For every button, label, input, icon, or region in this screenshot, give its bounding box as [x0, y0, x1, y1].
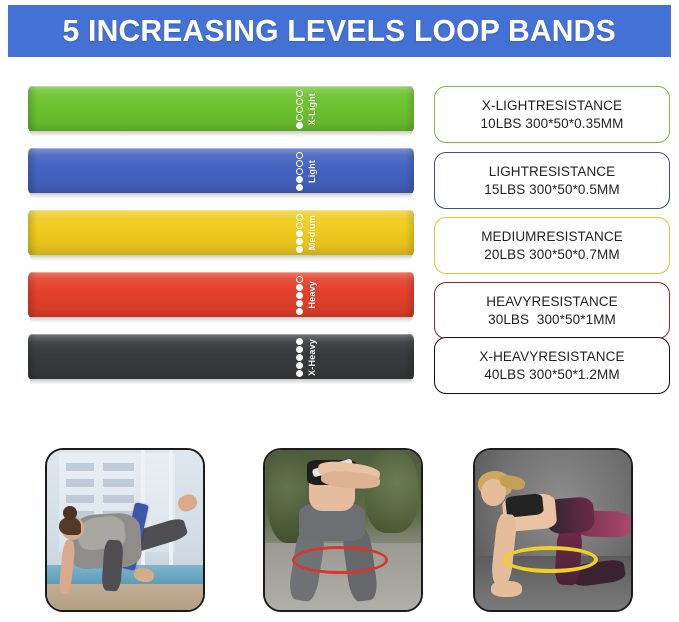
band-row: Light — [28, 148, 414, 200]
band-end-left — [28, 272, 37, 318]
band-end-left — [28, 210, 37, 256]
band-marks: Light — [296, 148, 366, 194]
band-swatch-x-heavy: X-Heavy — [28, 334, 414, 380]
band-end-left — [28, 148, 37, 194]
band-row: X-Light — [28, 86, 414, 138]
resistance-dots — [296, 90, 303, 129]
band-label: X-Heavy — [308, 339, 317, 376]
spec-box-x-heavy: X-HEAVYRESISTANCE 40LBS 300*50*1.2MM — [434, 337, 670, 394]
spec-title: X-LIGHTRESISTANCE — [482, 97, 622, 114]
resistance-dot-empty — [296, 106, 303, 113]
window-pane — [103, 495, 134, 503]
spec-detail: 10LBS 300*50*0.35MM — [481, 115, 624, 132]
band-swatch-list: X-Light Light — [28, 86, 414, 394]
band-marks: X-Light — [296, 86, 366, 132]
resistance-dot-filled — [296, 292, 303, 299]
band-row: Heavy — [28, 272, 414, 324]
hair-bun — [63, 506, 77, 520]
photo-strip — [45, 448, 645, 614]
resistance-dot-filled — [296, 338, 303, 345]
resistance-dot-filled — [296, 176, 303, 183]
page-title: 5 INCREASING LEVELS LOOP BANDS — [63, 13, 616, 49]
resistance-dot-empty — [296, 276, 303, 283]
band-end-left — [28, 334, 37, 380]
resistance-dot-filled — [296, 300, 303, 307]
spec-box-medium: MEDIUMRESISTANCE 20LBS 300*50*0.7MM — [434, 217, 670, 274]
band-end-right — [405, 148, 414, 194]
resistance-dot-empty — [296, 160, 303, 167]
resistance-dot-empty — [296, 90, 303, 97]
spec-box-heavy: HEAVYRESISTANCE 30LBS 300*50*1MM — [434, 282, 670, 339]
resistance-dots — [296, 338, 303, 377]
band-shadow — [30, 317, 412, 323]
resistance-dots — [296, 214, 303, 253]
band-end-right — [405, 334, 414, 380]
resistance-dot-filled — [296, 354, 303, 361]
band-label: X-Light — [308, 93, 317, 125]
window-pane — [66, 479, 94, 487]
resistance-dots — [296, 152, 303, 191]
header-banner: 5 INCREASING LEVELS LOOP BANDS — [8, 5, 671, 57]
band-row: X-Heavy — [28, 334, 414, 386]
resistance-dot-filled — [296, 284, 303, 291]
infographic-page: 5 INCREASING LEVELS LOOP BANDS X-Light — [0, 0, 679, 622]
spec-detail: 15LBS 300*50*0.5MM — [484, 181, 619, 198]
resistance-dot-filled — [296, 362, 303, 369]
resistance-dot-empty — [296, 152, 303, 159]
window-pane — [66, 495, 94, 503]
spec-title: MEDIUMRESISTANCE — [481, 228, 623, 245]
photo-content — [265, 450, 421, 610]
band-shadow — [30, 255, 412, 261]
spec-title: HEAVYRESISTANCE — [486, 293, 618, 310]
resistance-dot-filled — [296, 308, 303, 315]
resistance-dot-filled — [296, 246, 303, 253]
band-shadow — [30, 131, 412, 137]
band-row: Medium — [28, 210, 414, 262]
band-end-left — [28, 86, 37, 132]
band-shadow — [30, 379, 412, 385]
band-marks: X-Heavy — [296, 334, 366, 380]
resistance-dot-empty — [296, 98, 303, 105]
resistance-dot-empty — [296, 168, 303, 175]
photo-plank-yellow-band — [473, 448, 633, 612]
spec-detail: 40LBS 300*50*1.2MM — [484, 366, 619, 383]
band-marks: Heavy — [296, 272, 366, 318]
photo-kickback-blue-band — [45, 448, 205, 612]
band-swatch-x-light: X-Light — [28, 86, 414, 132]
resistance-dot-empty — [296, 214, 303, 221]
band-label: Medium — [308, 215, 317, 250]
spec-detail: 20LBS 300*50*0.7MM — [484, 246, 619, 263]
band-end-right — [405, 272, 414, 318]
band-end-right — [405, 86, 414, 132]
resistance-dot-filled — [296, 122, 303, 129]
resistance-dot-filled — [296, 346, 303, 353]
band-label: Heavy — [308, 281, 317, 309]
spec-title: X-HEAVYRESISTANCE — [479, 348, 624, 365]
resistance-dot-empty — [296, 114, 303, 121]
band-end-right — [405, 210, 414, 256]
resistance-dot-filled — [296, 184, 303, 191]
resistance-dot-filled — [296, 238, 303, 245]
photo-content — [47, 450, 203, 610]
spec-detail: 30LBS 300*50*1MM — [488, 311, 616, 328]
spec-box-light: LIGHTRESISTANCE 15LBS 300*50*0.5MM — [434, 152, 670, 209]
resistance-dots — [296, 276, 303, 315]
photo-content — [475, 450, 631, 610]
band-swatch-heavy: Heavy — [28, 272, 414, 318]
band-swatch-light: Light — [28, 148, 414, 194]
spec-title: LIGHTRESISTANCE — [489, 163, 616, 180]
band-label: Light — [308, 160, 317, 183]
window-pane — [103, 479, 134, 487]
resistance-dot-filled — [296, 370, 303, 377]
band-swatch-medium: Medium — [28, 210, 414, 256]
spec-box-x-light: X-LIGHTRESISTANCE 10LBS 300*50*0.35MM — [434, 86, 670, 143]
resistance-dot-empty — [296, 222, 303, 229]
hand — [491, 581, 522, 597]
band-marks: Medium — [296, 210, 366, 256]
band-shadow — [30, 193, 412, 199]
window-pane — [66, 463, 94, 471]
foliage — [365, 450, 418, 533]
spec-box-list: X-LIGHTRESISTANCE 10LBS 300*50*0.35MM LI… — [434, 86, 670, 394]
photo-squat-red-band — [263, 448, 423, 612]
window-pane — [103, 463, 134, 471]
resistance-dot-filled — [296, 230, 303, 237]
